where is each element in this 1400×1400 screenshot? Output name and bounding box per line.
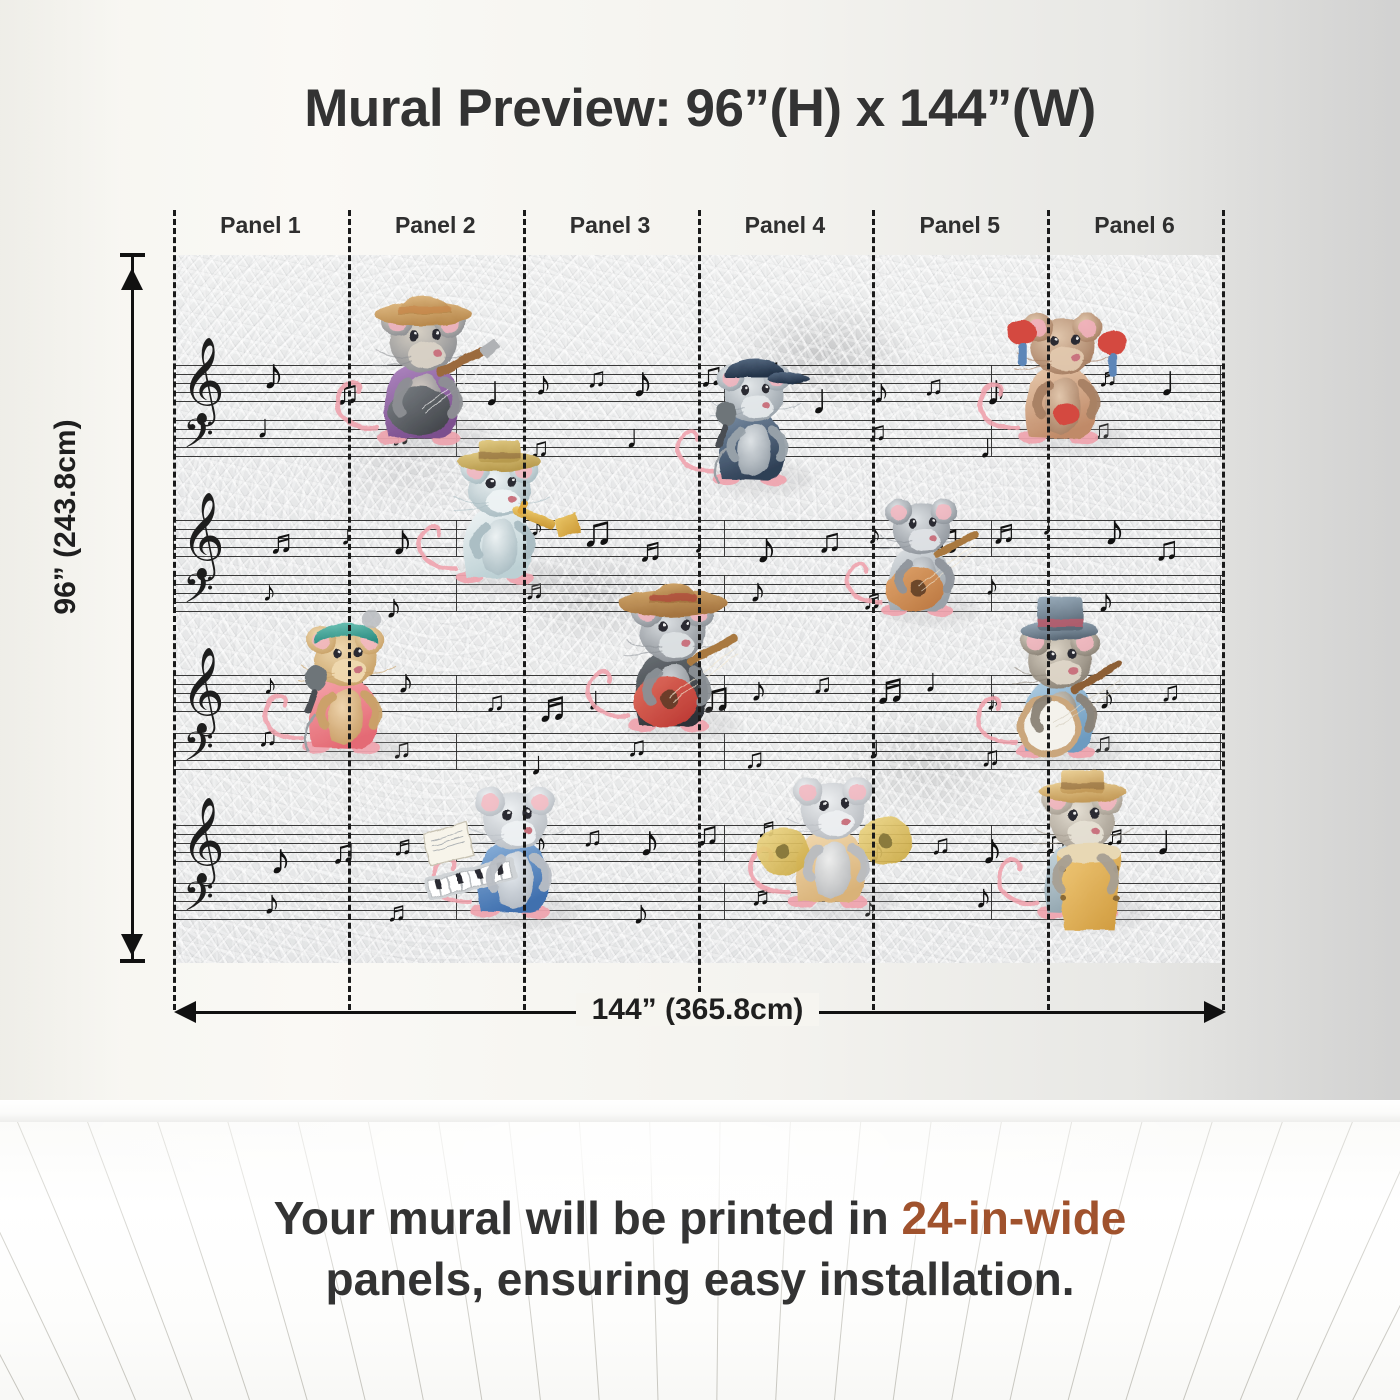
barline [724,825,725,861]
music-note: ♩ [1042,512,1070,540]
panel-divider-4 [872,210,875,1010]
music-note: ♪ [639,820,661,864]
music-note: ♪ [755,527,777,571]
barline [456,675,457,711]
barline [1220,675,1221,711]
mouse-piano [418,755,598,950]
music-note: ♫ [1160,678,1181,706]
music-note: ♩ [626,420,660,454]
music-note: ♬ [268,525,302,559]
music-note: ♪ [535,367,552,401]
panel-label-5: Panel 5 [872,212,1047,246]
panel-label-2: Panel 2 [348,212,523,246]
barline [1220,520,1221,556]
panel-label-6: Panel 6 [1047,212,1222,246]
panel-divider-2 [523,210,526,1010]
music-note: ♩ [256,410,290,444]
music-note: ♫ [867,418,888,446]
caption-line1-before: Your mural will be printed in [274,1192,902,1244]
treble-clef-icon: 𝄞 [181,498,225,572]
baseboard [0,1100,1400,1122]
barline [724,520,725,556]
music-note: ♬ [392,832,420,860]
barline [1220,733,1221,769]
music-note: ♩ [1159,360,1203,404]
barline [1220,825,1221,861]
width-dimension-label: 144” (365.8cm) [173,993,1222,1027]
music-note: ♫ [930,831,951,859]
panel-label-1: Panel 1 [173,212,348,246]
mouse-cymbals [733,745,918,940]
barline [1220,420,1221,456]
bass-clef-icon: 𝄢 [183,879,214,927]
music-note: ♫ [586,364,607,392]
mouse-maracas [963,281,1148,476]
mouse-microphone-hat [665,335,830,515]
panel-divider-3 [698,210,701,1010]
barline [1220,883,1221,919]
height-cap-top [120,253,145,257]
barline [1220,575,1221,611]
mouse-trumpet [405,425,580,615]
bass-clef-icon: 𝄢 [183,729,214,777]
treble-clef-icon: 𝄞 [181,653,225,727]
height-arrow-up-icon [121,268,143,290]
barline [1220,365,1221,401]
caption-line2: panels, ensuring easy installation. [325,1253,1074,1305]
barline [724,883,725,919]
music-note: ♫ [331,835,357,869]
panel-label-4: Panel 4 [697,212,872,246]
music-note: ♪ [632,361,654,405]
music-note: ♩ [341,522,369,550]
panel-divider-1 [348,210,351,1010]
caption-accent: 24-in-wide [901,1192,1126,1244]
page-title: Mural Preview: 96”(H) x 144”(W) [0,78,1400,139]
music-note: ♩ [924,664,958,698]
music-note: ♬ [874,667,918,711]
mural-preview-screenshot: Mural Preview: 96”(H) x 144”(W) Panel 1 … [0,0,1400,1400]
music-note: ♫ [923,372,944,400]
bass-clef-icon: 𝄢 [183,571,214,619]
height-cap-bottom [120,959,145,963]
height-dimension-line [131,255,134,963]
music-note: ♬ [991,515,1025,549]
bass-clef-icon: 𝄢 [183,416,214,464]
height-arrow-down-icon [121,934,143,956]
music-note: ♫ [1154,532,1180,566]
treble-clef-icon: 𝄞 [181,803,225,877]
mural-edge-dashed-line [1222,210,1225,1010]
mouse-singer [251,595,426,785]
installation-caption: Your mural will be printed in 24-in-wide… [0,1188,1400,1309]
treble-clef-icon: 𝄞 [181,343,225,417]
height-dimension-label: 96” (243.8cm) [49,387,83,647]
panel-divider-5 [1047,210,1050,1010]
music-note: ♪ [633,896,650,930]
mouse-mariachi [573,565,758,765]
music-note: ♪ [263,886,280,920]
mouse-conga [985,753,1165,953]
music-note: ♪ [1103,509,1125,553]
music-note: ♬ [638,533,672,567]
music-note: ♪ [262,353,284,397]
music-note: ♫ [485,688,506,716]
music-note: ♪ [269,838,291,882]
mural-edge-dashed-line [173,210,176,1010]
music-note: ♬ [386,898,414,926]
music-note: ♫ [812,670,833,698]
music-note: ♫ [581,510,614,554]
panel-label-3: Panel 3 [523,212,698,246]
